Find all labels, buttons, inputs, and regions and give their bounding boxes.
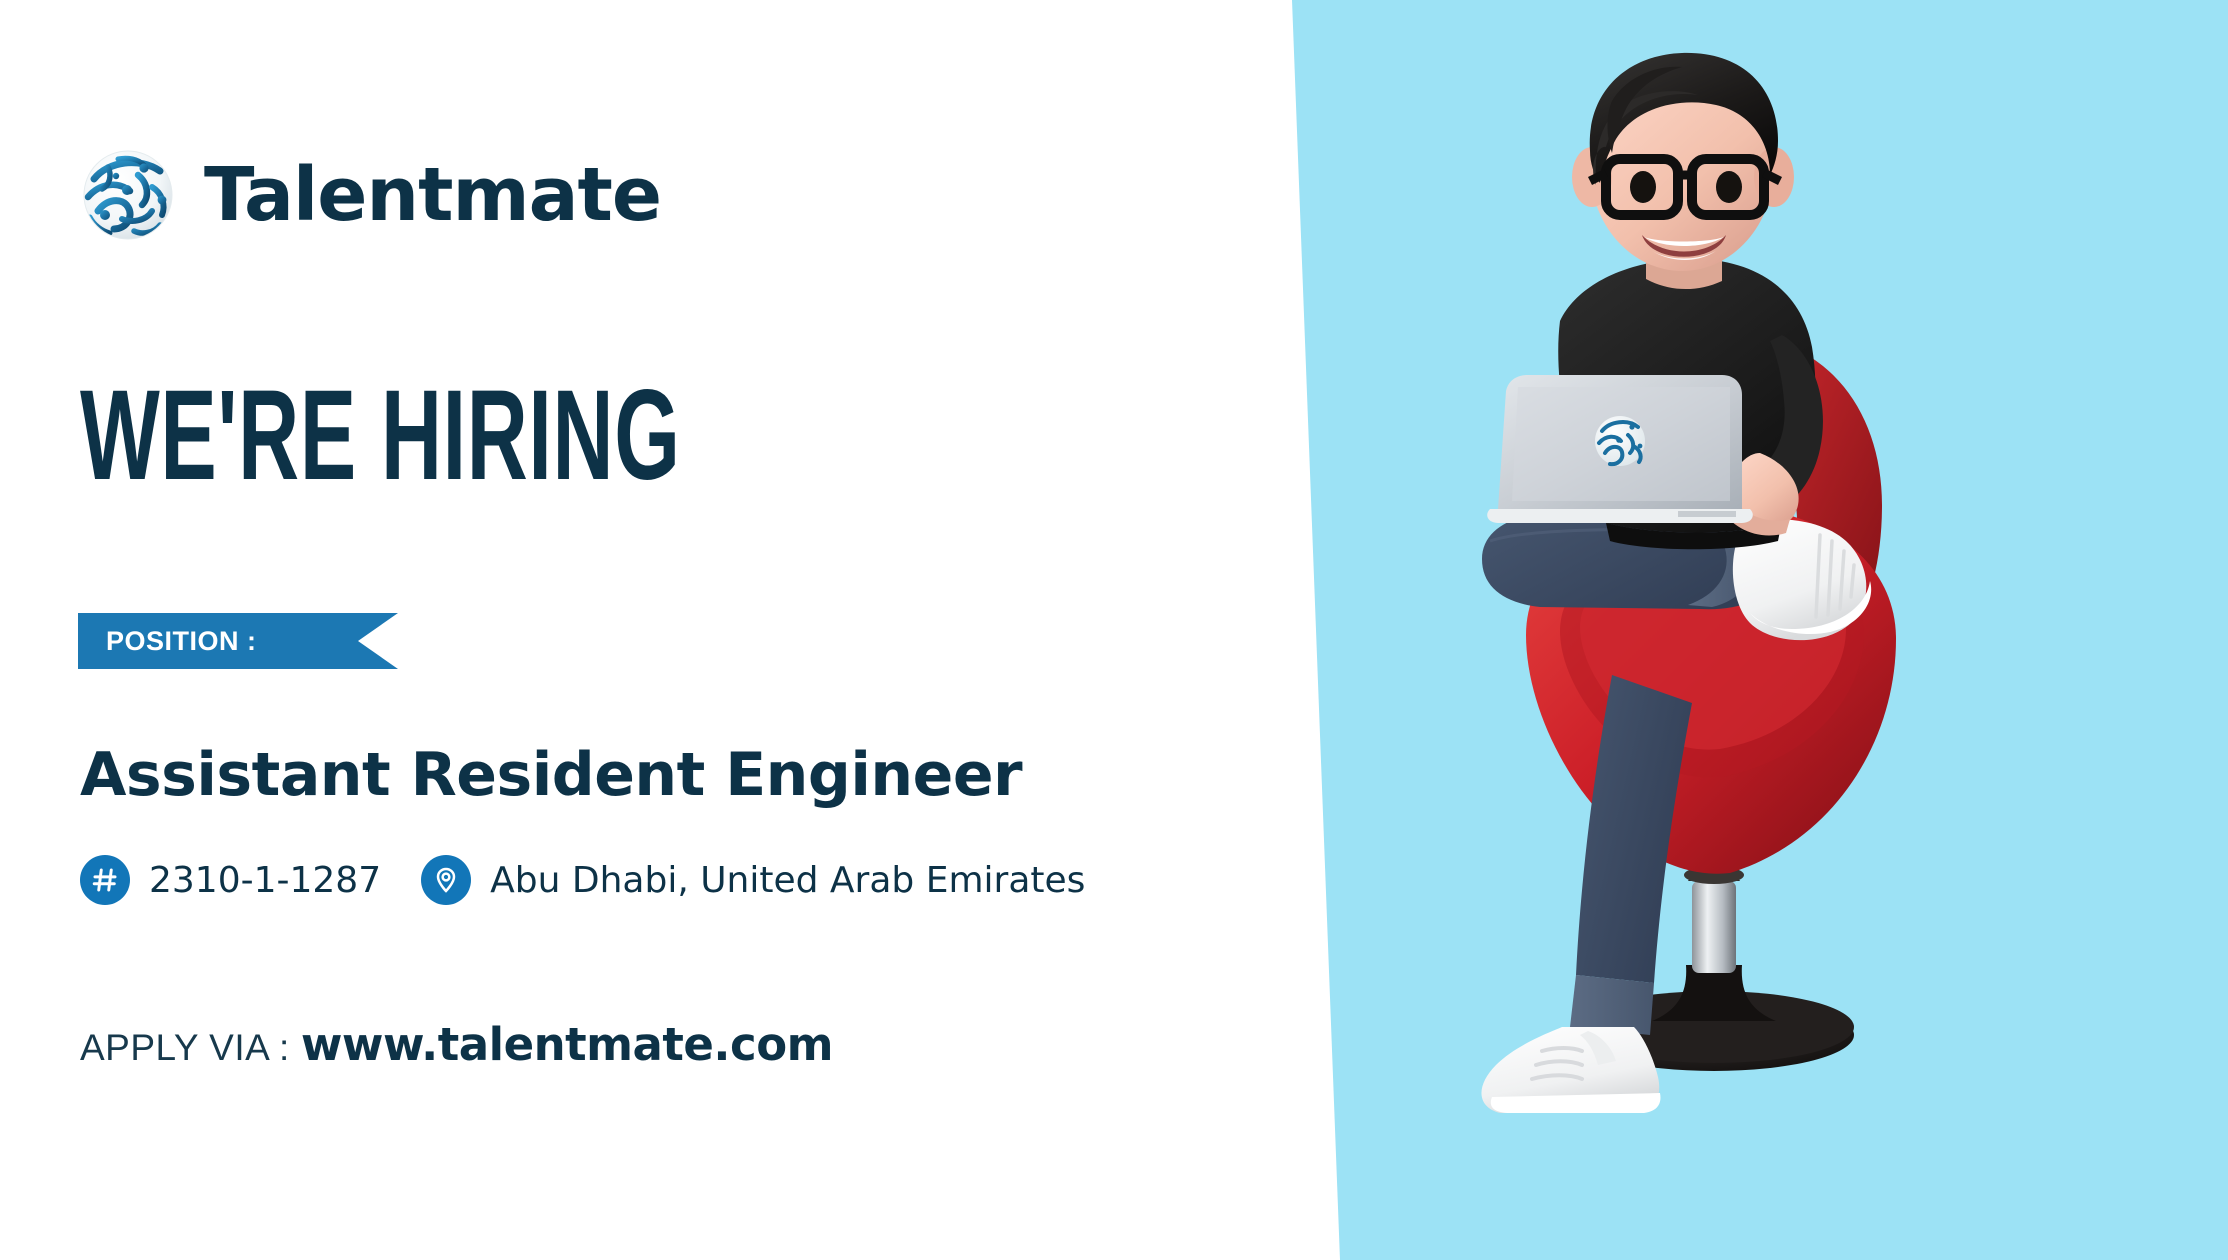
location-pin-icon [421,855,471,905]
poster-canvas: Talentmate WE'RE HIRING POSITION : Assis… [0,0,2228,1260]
talentmate-sphere-logo-icon [78,145,178,245]
job-location-value: Abu Dhabi, United Arab Emirates [490,860,1085,901]
job-reference: 2310-1-1287 [80,855,381,905]
sneaker-front [1481,1027,1660,1113]
laptop-talentmate-logo-icon [1595,416,1645,466]
apply-label: APPLY VIA : [80,1027,290,1069]
apply-url[interactable]: www.talentmate.com [301,1018,833,1071]
brand-logo[interactable]: Talentmate [78,145,661,245]
brand-name: Talentmate [204,158,661,232]
illustration-man-with-laptop [1430,35,1990,1125]
job-location: Abu Dhabi, United Arab Emirates [421,855,1085,905]
job-meta-row: 2310-1-1287 Abu Dhabi, United Arab Emira… [80,855,1085,905]
content-column: Talentmate WE'RE HIRING POSITION : Assis… [78,0,1228,1260]
laptop [1487,375,1753,523]
apply-line: APPLY VIA : www.talentmate.com [80,1018,833,1071]
hash-icon [80,855,130,905]
job-title: Assistant Resident Engineer [80,740,1022,810]
job-reference-value: 2310-1-1287 [149,860,381,901]
position-ribbon-label: POSITION : [106,613,257,669]
illustration-svg [1430,35,1990,1125]
page-title: WE'RE HIRING [80,372,681,500]
